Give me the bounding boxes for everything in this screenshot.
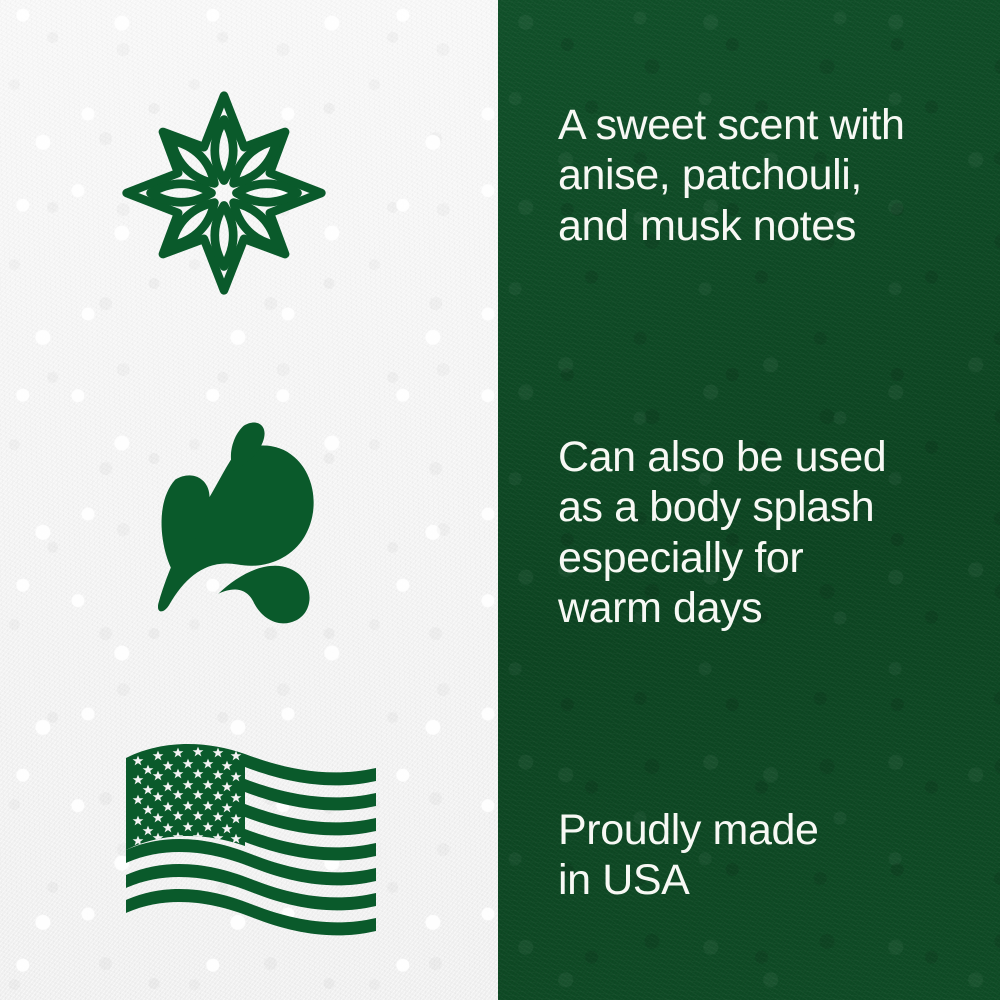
product-feature-infographic: A sweet scent with anise, patchouli, and… — [0, 0, 1000, 1000]
icon-panel — [0, 0, 498, 1000]
feature-text-scent: A sweet scent with anise, patchouli, and… — [558, 100, 968, 251]
usa-flag-icon — [120, 742, 382, 927]
feature-text-body-splash: Can also be used as a body splash especi… — [558, 432, 968, 633]
feature-text-made-in-usa: Proudly made in USA — [558, 805, 968, 906]
text-panel: A sweet scent with anise, patchouli, and… — [498, 0, 1000, 1000]
water-splash-icon — [128, 420, 324, 630]
flower-star-icon — [118, 88, 330, 298]
